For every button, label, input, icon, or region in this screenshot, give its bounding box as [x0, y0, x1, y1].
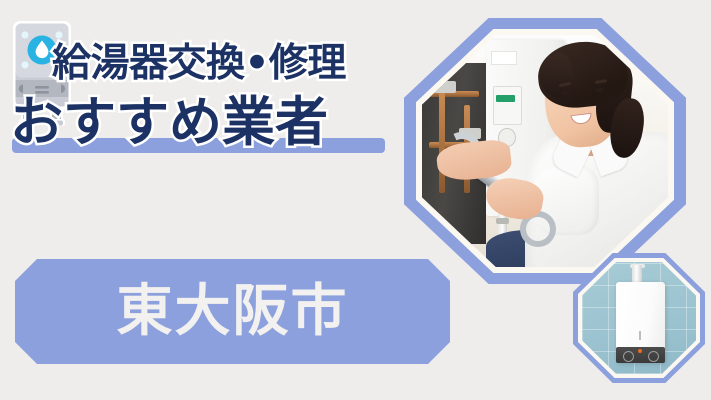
headline-line-1: 給湯器交換•修理: [52, 44, 430, 83]
headline-block: 給湯器交換•修理 おすすめ業者: [10, 44, 430, 158]
headline-line-2: おすすめ業者: [10, 96, 328, 150]
city-badge: 東大阪市: [15, 259, 450, 364]
service-banner: 給湯器交換•修理 おすすめ業者 東大阪市: [0, 0, 711, 400]
city-badge-label: 東大阪市: [117, 284, 349, 340]
headline-line-2-wrapper: おすすめ業者: [10, 96, 430, 158]
